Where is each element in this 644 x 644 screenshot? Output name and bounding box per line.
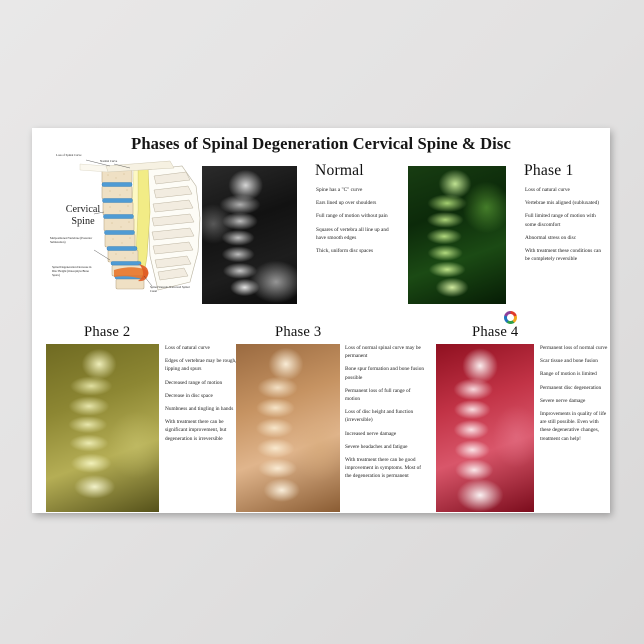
page-title: Phases of Spinal Degeneration Cervical S… <box>32 134 610 154</box>
bullet: Permanent disc degeneration <box>540 384 610 392</box>
bullet: Abnormal stress on disc <box>525 234 603 242</box>
cervical-spine-xray-phase-3 <box>236 344 340 512</box>
bullet: Permanent loss of normal curve <box>540 344 610 352</box>
bullet: Decreased range of motion <box>165 379 241 387</box>
bullet: Loss of disc height and function (irreve… <box>345 408 424 424</box>
panel-heading-phase-3: Phase 3 <box>275 324 321 341</box>
bullet: Decrease in disc space <box>165 392 241 400</box>
panel-text-normal: Spine has a "C" curve Ears lined up over… <box>316 186 396 260</box>
bullet: Loss of natural curve <box>165 344 241 352</box>
bullet: Improvements in quality of life are stil… <box>540 410 610 443</box>
bullet: Severe nerve damage <box>540 397 610 405</box>
cervical-spine-xray-phase-2 <box>46 344 159 512</box>
bullet: With treatment there can be significant … <box>165 418 241 443</box>
bullet: Permanent loss of full range of motion <box>345 387 424 403</box>
bullet: Full limited range of motion with some d… <box>525 212 603 228</box>
bullet: Full range of motion without pain <box>316 212 396 220</box>
bullet: Severe headaches and fatigue <box>345 443 424 451</box>
bullet: With treatment there can be good improve… <box>345 456 424 481</box>
bullet: Spine has a "C" curve <box>316 186 396 194</box>
bullet: Increased nerve damage <box>345 430 424 438</box>
bullet: Edges of vertebrae may be rough, lipping… <box>165 357 241 373</box>
bullet: With treatment these conditions can be c… <box>525 247 603 263</box>
bullet: Squares of vertebra all line up and have… <box>316 226 396 242</box>
panel-heading-phase-2: Phase 2 <box>84 324 130 341</box>
bullet: Scar tissue and bone fusion <box>540 357 610 365</box>
diagram-label-spinal-degeneration: Spinal Degeneration Decrease in Disc Hei… <box>52 266 94 277</box>
cervical-spine-xray-phase-1 <box>408 166 506 304</box>
diagram-label-normal-curve: Normal Curve <box>100 160 130 164</box>
diagram-label-spinal-stenosis: Spinal Stenosis Narrowed Spinal Canal <box>150 286 196 294</box>
diagram-label-malpositioned-vertebrae: Malpositioned Vertebrae (Posterior Sublu… <box>50 237 95 245</box>
bullet: Bone spur formation and bone fusion poss… <box>345 365 424 381</box>
bullet: Range of motion is limited <box>540 370 610 378</box>
panel-text-phase-4: Permanent loss of normal curve Scar tiss… <box>540 344 610 448</box>
cervical-spine-xray-phase-4 <box>436 344 534 512</box>
bullet: Numbness and tingling in hands <box>165 405 241 413</box>
bullet: Thick, uniform disc spaces <box>316 247 396 255</box>
bullet: Vertebrae mis aligned (subluxated) <box>525 199 603 207</box>
panel-heading-phase-4: Phase 4 <box>472 324 518 341</box>
bullet: Loss of natural curve <box>525 186 603 194</box>
bullet: Loss of normal spinal curve may be perma… <box>345 344 424 360</box>
panel-text-phase-2: Loss of natural curve Edges of vertebrae… <box>165 344 241 448</box>
logo-caption <box>534 313 535 316</box>
cervical-spine-xray-normal <box>202 166 297 304</box>
bullet: Ears lined up over shoulders <box>316 199 396 207</box>
panel-heading-normal: Normal <box>315 162 364 180</box>
panel-text-phase-3: Loss of normal spinal curve may be perma… <box>345 344 424 486</box>
color-wheel-icon <box>504 311 517 324</box>
poster-sheet: Phases of Spinal Degeneration Cervical S… <box>32 128 610 513</box>
screenshot-canvas: Phases of Spinal Degeneration Cervical S… <box>0 0 644 644</box>
panel-text-phase-1: Loss of natural curve Vertebrae mis alig… <box>525 186 603 268</box>
diagram-label-loss-of-spinal-curve: Loss of Spinal Curve <box>56 154 100 158</box>
panel-heading-phase-1: Phase 1 <box>524 162 573 180</box>
diagram-title: Cervical Spine <box>52 204 114 228</box>
cervical-spine-diagram: Cervical Spine Loss of Spinal Curve Norm… <box>50 152 210 304</box>
